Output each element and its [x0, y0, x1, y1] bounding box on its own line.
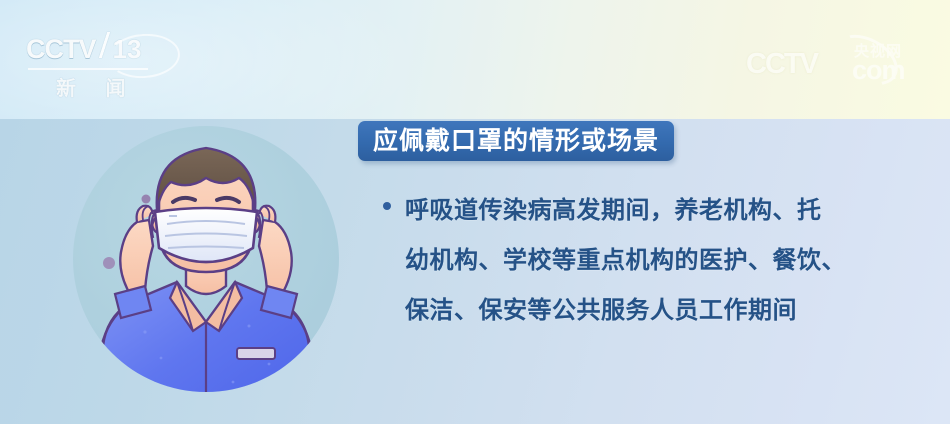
- mask-person-illustration: [73, 126, 339, 392]
- bullet-dot-icon: [383, 202, 391, 210]
- watermark-brand: CCTV: [746, 48, 817, 81]
- person-wearing-mask-icon: [73, 126, 339, 424]
- cctv-com-watermark: CCTV 央视网 com: [746, 36, 936, 88]
- bullet-item-text: 呼吸道传染病高发期间，养老机构、托 幼机构、学校等重点机构的医护、餐饮、 保洁、…: [405, 186, 846, 336]
- cctv-wordmark: CCTV: [26, 34, 96, 64]
- bullet-line-1: 呼吸道传染病高发期间，养老机构、托: [405, 197, 822, 224]
- logo-underline-rule: [28, 68, 148, 70]
- channel-number: 13: [113, 34, 142, 64]
- slide-title-banner: 应佩戴口罩的情形或场景: [358, 121, 674, 161]
- slide-title-text: 应佩戴口罩的情形或场景: [373, 129, 659, 154]
- list-item: 呼吸道传染病高发期间，养老机构、托 幼机构、学校等重点机构的医护、餐饮、 保洁、…: [383, 186, 883, 336]
- decor-dot: [103, 257, 115, 269]
- logo-slash-icon: [98, 32, 109, 58]
- logo-wordmark-row: CCTV 13: [26, 32, 176, 62]
- channel-name-cn: 新 闻: [56, 72, 138, 101]
- illustration-clip: [73, 126, 339, 424]
- bullet-line-3: 保洁、保安等公共服务人员工作期间: [405, 297, 797, 324]
- cctv13-channel-logo: CCTV 13 新 闻: [26, 32, 176, 94]
- bullet-line-2: 幼机构、学校等重点机构的医护、餐饮、: [405, 247, 846, 274]
- watermark-tld: com: [852, 55, 905, 86]
- decor-dot: [142, 195, 151, 204]
- slide-bullet-list: 呼吸道传染病高发期间，养老机构、托 幼机构、学校等重点机构的医护、餐饮、 保洁、…: [383, 186, 883, 336]
- broadcast-slide: CCTV 13 新 闻 CCTV 央视网 com: [0, 0, 950, 424]
